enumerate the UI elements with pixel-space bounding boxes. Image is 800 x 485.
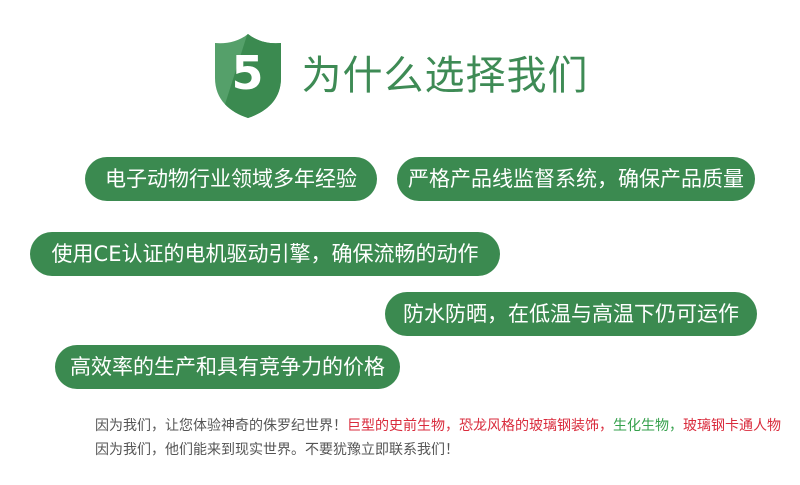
footer-text: 因为我们，让您体验神奇的侏罗纪世界！巨型的史前生物，恐龙风格的玻璃钢装饰，生化生… [95,414,755,462]
footer-line-1: 因为我们，让您体验神奇的侏罗纪世界！巨型的史前生物，恐龙风格的玻璃钢装饰，生化生… [95,414,755,438]
footer-line1-part4: 玻璃钢卡通人物 [683,418,781,434]
shield-icon: 5 [212,32,284,120]
footer-line1-part2: 巨型的史前生物，恐龙风格的玻璃钢装饰， [347,418,613,434]
page-root: 5 为什么选择我们 电子动物行业领域多年经验 严格产品线监督系统，确保产品质量 … [0,0,800,485]
feature-pill-2: 严格产品线监督系统，确保产品质量 [397,157,755,201]
footer-line1-part3: 生化生物， [613,418,683,434]
section-header: 5 为什么选择我们 [0,26,800,126]
page-title: 为什么选择我们 [302,56,589,96]
shield-number: 5 [212,32,284,120]
feature-pill-3: 使用CE认证的电机驱动引擎，确保流畅的动作 [30,232,500,276]
feature-pill-4: 防水防晒，在低温与高温下仍可运作 [385,292,757,336]
footer-line-2: 因为我们，他们能来到现实世界。不要犹豫立即联系我们！ [95,438,755,462]
footer-line1-part1: 因为我们，让您体验神奇的侏罗纪世界！ [95,418,347,434]
feature-pill-1: 电子动物行业领域多年经验 [85,157,377,201]
footer-line2-part1: 因为我们，他们能来到现实世界。不要犹豫立即联系我们！ [95,442,459,458]
feature-pill-5: 高效率的生产和具有竞争力的价格 [55,345,400,389]
